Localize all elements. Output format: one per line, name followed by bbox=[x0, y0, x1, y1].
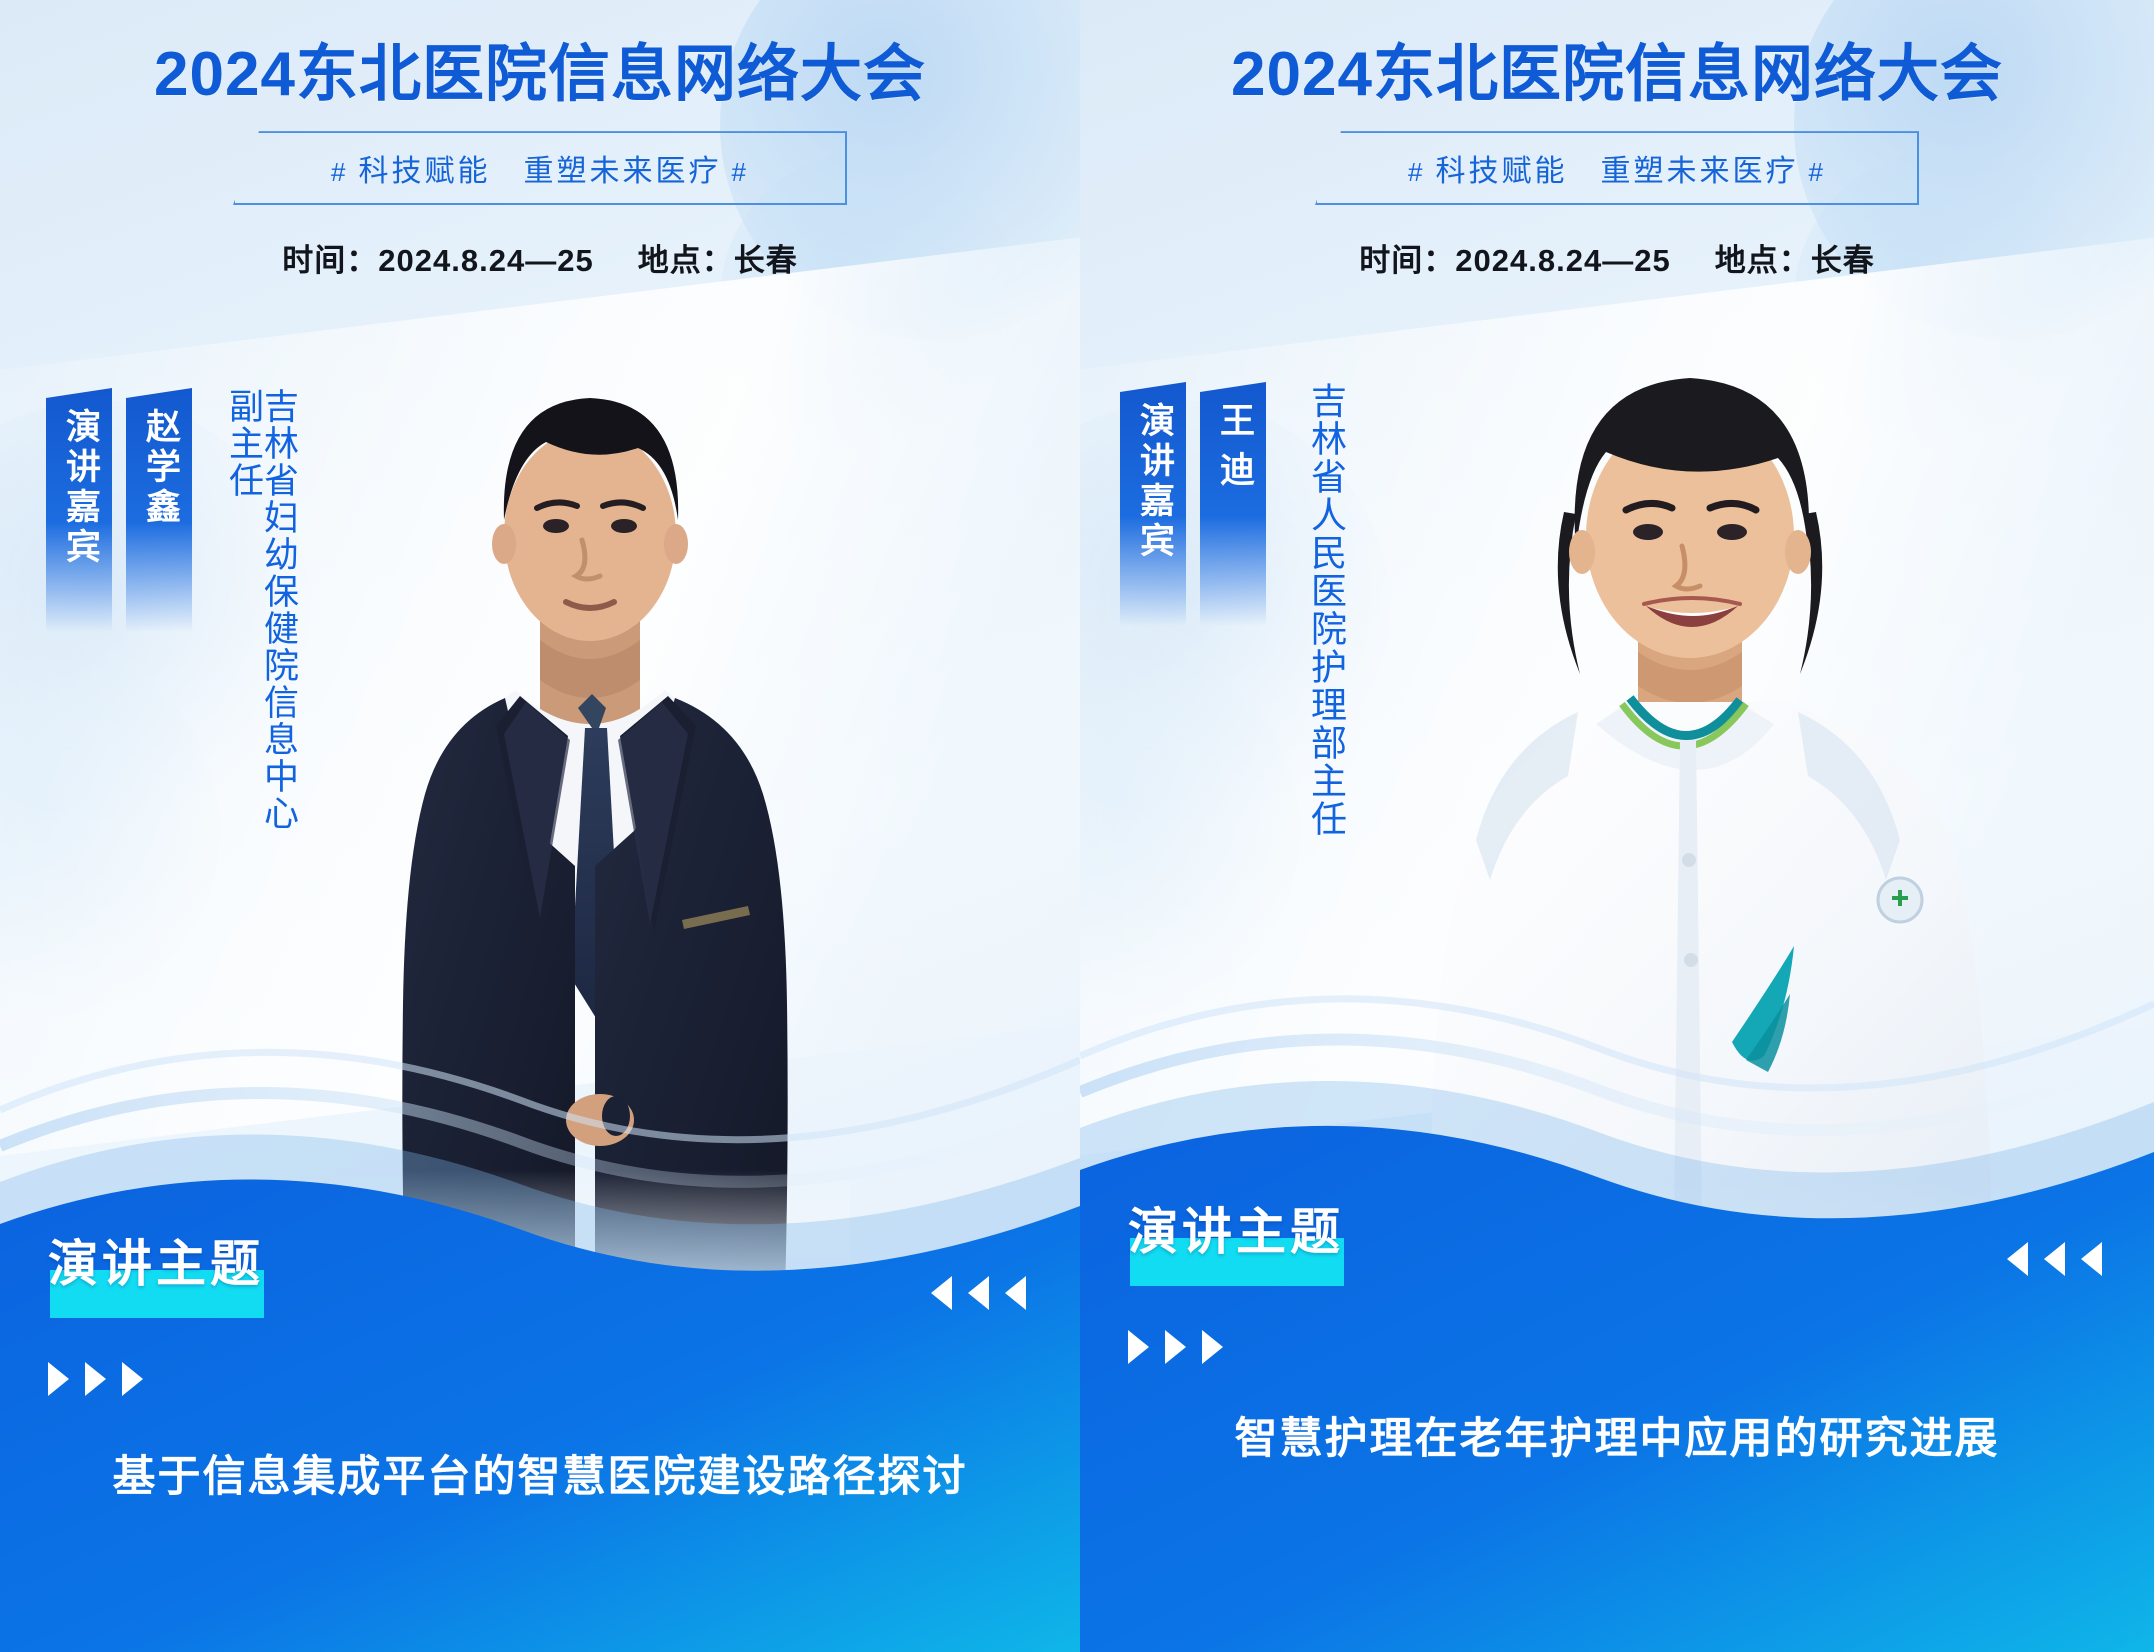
triangle-right-icon-3 bbox=[1202, 1330, 1223, 1364]
triangle-left-icon-2 bbox=[2044, 1242, 2065, 1276]
event-meta: 时间：2024.8.24—25地点：长春 bbox=[1080, 235, 2154, 280]
slogan-box: #科技赋能 重塑未来医疗# bbox=[1315, 131, 1919, 205]
poster-header: 2024东北医院信息网络大会 #科技赋能 重塑未来医疗# 时间：2024.8.2… bbox=[1080, 0, 2154, 280]
right-arrow-group bbox=[48, 1362, 143, 1396]
hash-icon-left: # bbox=[331, 157, 348, 187]
female-speaker-portrait bbox=[1380, 300, 2000, 1300]
slogan-line: #科技赋能 重塑未来医疗# bbox=[321, 146, 759, 190]
slogan-text: 科技赋能 重塑未来医疗 bbox=[359, 155, 722, 188]
triangle-right-icon-2 bbox=[1165, 1330, 1186, 1364]
triangle-left-icon-1 bbox=[931, 1276, 952, 1310]
conference-title: 2024东北医院信息网络大会 bbox=[0, 42, 1080, 107]
place-value: 长春 bbox=[734, 243, 798, 278]
male-speaker-portrait bbox=[330, 330, 850, 1300]
triangle-left-icon-3 bbox=[2081, 1242, 2102, 1276]
conference-title: 2024东北医院信息网络大会 bbox=[1080, 42, 2154, 107]
topic-title: 智慧护理在老年护理中应用的研究进展 bbox=[1080, 1404, 2154, 1466]
topic-heading-block: 演讲主题 bbox=[1128, 1192, 1344, 1264]
triangle-left-icon-1 bbox=[2007, 1242, 2028, 1276]
topic-heading: 演讲主题 bbox=[48, 1224, 264, 1296]
speaker-name-badge: 赵学鑫 bbox=[126, 388, 192, 632]
slogan-text: 科技赋能 重塑未来医疗 bbox=[1436, 155, 1799, 188]
triangle-right-icon-1 bbox=[48, 1362, 69, 1396]
speaker-badge-group: 演讲嘉宾 王迪 吉林省人民医院护理部主任 bbox=[1120, 382, 1344, 838]
event-meta: 时间：2024.8.24—25地点：长春 bbox=[0, 235, 1080, 280]
guest-badge: 演讲嘉宾 bbox=[46, 388, 112, 632]
speaker-affiliation: 吉林省人民医院护理部主任 bbox=[1308, 382, 1344, 838]
slogan-box: #科技赋能 重塑未来医疗# bbox=[233, 131, 847, 205]
topic-heading-block: 演讲主题 bbox=[48, 1224, 264, 1296]
hash-icon-right: # bbox=[732, 157, 749, 187]
place-value: 长春 bbox=[1811, 243, 1875, 278]
poster-header: 2024东北医院信息网络大会 #科技赋能 重塑未来医疗# 时间：2024.8.2… bbox=[0, 0, 1080, 280]
hash-icon-right: # bbox=[1809, 157, 1826, 187]
triangle-right-icon-3 bbox=[122, 1362, 143, 1396]
hash-icon-left: # bbox=[1408, 157, 1425, 187]
left-arrow-group bbox=[2007, 1242, 2102, 1276]
topic-title: 基于信息集成平台的智慧医院建设路径探讨 bbox=[0, 1442, 1080, 1504]
poster-bottom-left: 演讲主题 基于信息集成平台的智慧医院建设路径探讨 bbox=[0, 1172, 1080, 1652]
time-value: 2024.8.24—25 bbox=[1455, 243, 1670, 278]
triangle-right-icon-2 bbox=[85, 1362, 106, 1396]
poster-pair-stage: 2024东北医院信息网络大会 #科技赋能 重塑未来医疗# 时间：2024.8.2… bbox=[0, 0, 2154, 1652]
triangle-left-icon-2 bbox=[968, 1276, 989, 1310]
guest-badge: 演讲嘉宾 bbox=[1120, 382, 1186, 626]
place-label: 地点： bbox=[638, 243, 734, 278]
right-arrow-group bbox=[1128, 1330, 1223, 1364]
triangle-right-icon-1 bbox=[1128, 1330, 1149, 1364]
time-value: 2024.8.24—25 bbox=[378, 243, 593, 278]
speaker-name-badge: 王迪 bbox=[1200, 382, 1266, 626]
left-arrow-group bbox=[931, 1276, 1026, 1310]
topic-heading: 演讲主题 bbox=[1128, 1192, 1344, 1264]
speaker-affiliation: 吉林省妇幼保健院信息中心副主任 bbox=[226, 388, 296, 858]
slogan-line: #科技赋能 重塑未来医疗# bbox=[1398, 146, 1836, 190]
poster-left: 2024东北医院信息网络大会 #科技赋能 重塑未来医疗# 时间：2024.8.2… bbox=[0, 0, 1080, 1652]
time-label: 时间： bbox=[1359, 243, 1455, 278]
time-label: 时间： bbox=[282, 243, 378, 278]
triangle-left-icon-3 bbox=[1005, 1276, 1026, 1310]
place-label: 地点： bbox=[1715, 243, 1811, 278]
poster-right: 2024东北医院信息网络大会 #科技赋能 重塑未来医疗# 时间：2024.8.2… bbox=[1080, 0, 2154, 1652]
poster-bottom-right: 演讲主题 智慧护理在老年护理中应用的研究进展 bbox=[1080, 1172, 2154, 1652]
speaker-badge-group: 演讲嘉宾 赵学鑫 吉林省妇幼保健院信息中心副主任 bbox=[46, 388, 296, 858]
